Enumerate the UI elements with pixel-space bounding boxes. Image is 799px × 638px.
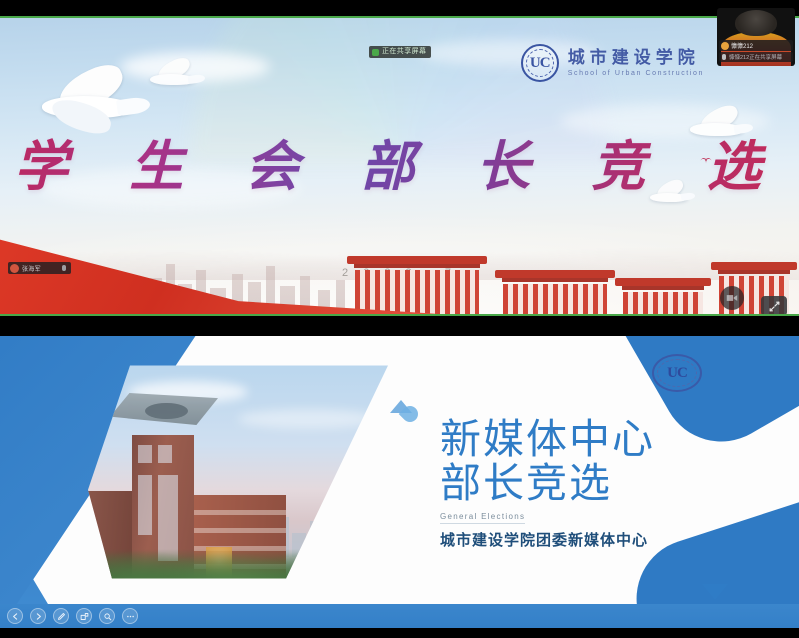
dove-icon <box>150 66 196 92</box>
participant-status-label: 慷慷212正在共享屏幕 <box>729 53 782 61</box>
avatar <box>721 42 729 50</box>
host-name-label: 张海军 <box>22 264 41 273</box>
school-name-en: School of Urban Construction <box>568 70 704 77</box>
uc-badge-icon: UC <box>521 44 559 82</box>
participant-head <box>735 10 777 36</box>
school-logo-badge: UC <box>652 354 702 392</box>
shapes-icon[interactable] <box>76 608 92 624</box>
uc-badge-text: UC <box>530 55 550 72</box>
slide-headline-line1: 新媒体中心 <box>440 418 780 462</box>
uc-badge-text: UC <box>667 365 687 382</box>
expand-arrow-icon <box>768 300 781 313</box>
participant-name-label: 慷慷212 <box>731 41 753 50</box>
triangle-down-icon <box>702 584 728 600</box>
shared-screen-frame[interactable]: 学 生 会 部 长 竞 选 2 0 2 3 . 7 <box>0 16 799 316</box>
red-building-silhouette <box>620 278 706 314</box>
slide-subtitle-en: General Elections <box>440 512 525 524</box>
watermark-badge <box>720 286 744 310</box>
presentation-toolbar[interactable] <box>0 604 799 628</box>
expand-button[interactable] <box>761 296 787 316</box>
pen-icon[interactable] <box>53 608 69 624</box>
slide-headline-line2: 部长竞选 <box>440 462 780 506</box>
zoom-icon[interactable] <box>99 608 115 624</box>
microphone-icon <box>722 54 726 60</box>
participant-status-bar: 慷慷212正在共享屏幕 <box>719 52 793 62</box>
camera-off-icon <box>725 291 739 305</box>
microphone-icon <box>62 265 66 271</box>
forward-icon[interactable] <box>30 608 46 624</box>
slide-text-block: 新媒体中心 部长竞选 General Elections 城市建设学院团委新媒体… <box>440 418 780 550</box>
participant-name-tag: 慷慷212 <box>719 40 793 51</box>
projected-slide-pane: UC 新媒体中心 部长竞选 General Elections 城市建设学院团委… <box>0 336 799 604</box>
back-icon[interactable] <box>7 608 23 624</box>
slide-subtitle-cn: 城市建设学院团委新媒体中心 <box>440 529 780 550</box>
red-building-silhouette <box>500 270 610 314</box>
share-status-label: 正在共享屏幕 <box>382 46 426 58</box>
screen-root: 学 生 会 部 长 竞 选 2 0 2 3 . 7 <box>0 0 799 638</box>
screen-bottom-bezel <box>0 628 799 638</box>
school-name-cn: 城市建设学院 <box>568 49 704 68</box>
screen-share-icon <box>372 49 379 56</box>
host-name-tag: 张海军 <box>8 262 71 274</box>
share-status-tag: 正在共享屏幕 <box>369 46 431 58</box>
red-building-silhouette <box>352 256 482 314</box>
more-icon[interactable] <box>122 608 138 624</box>
school-logo: UC 城市建设学院 School of Urban Construction <box>521 44 704 82</box>
avatar <box>10 264 19 273</box>
slide-title: 学 生 会 部 长 竞 选 <box>0 122 799 201</box>
video-conference-pane: 学 生 会 部 长 竞 选 2 0 2 3 . 7 <box>0 0 799 336</box>
